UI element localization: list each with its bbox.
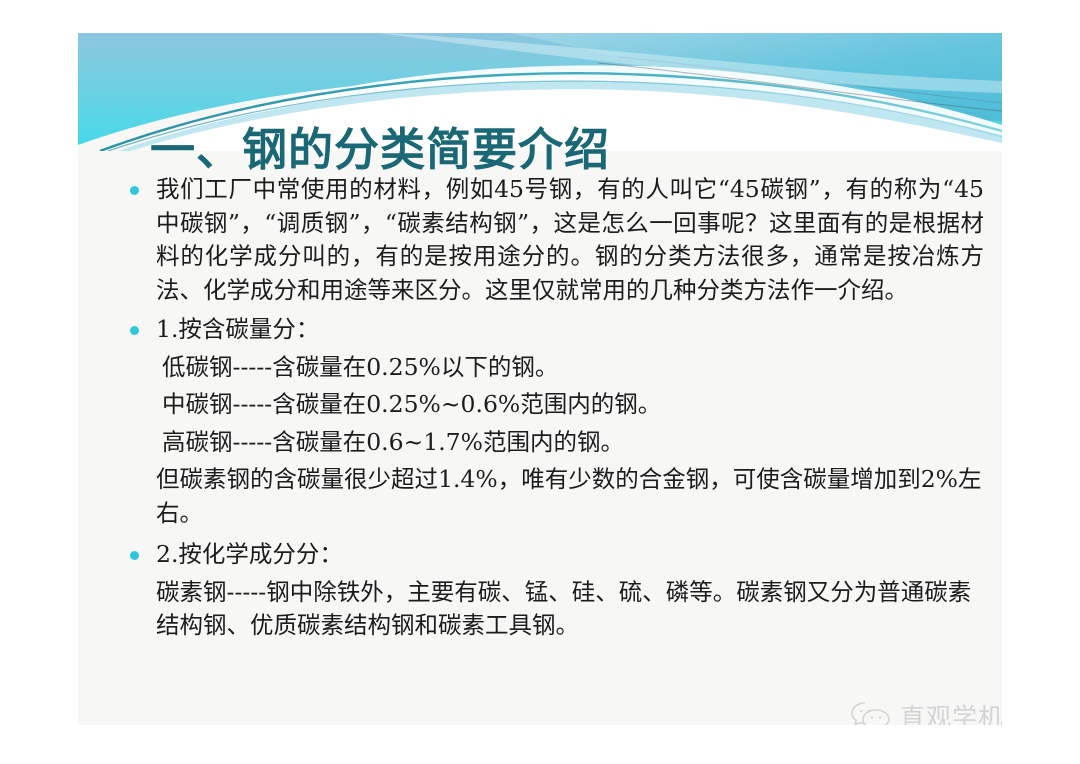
list-item-low-carbon: 低碳钢-----含碳量在0.25%以下的钢。	[78, 351, 1002, 385]
slide-title: 一、钢的分类简要介绍	[150, 127, 610, 172]
slide-body: 我们工厂中常使用的材料，例如45号钢，有的人叫它“45碳钢”，有的称为“45中碳…	[78, 173, 1002, 643]
paragraph-text: 1.按含碳量分：	[156, 315, 319, 343]
paragraph-carbon-steel-types: 碳素钢-----钢中除铁外，主要有碳、锰、硅、硫、磷等。碳素钢又分为普通碳素结构…	[78, 576, 1002, 643]
wechat-icon	[850, 699, 892, 725]
paragraph-text: 但碳素钢的含碳量很少超过1.4%，唯有少数的合金钢，可使含碳量增加到2%左右。	[156, 465, 981, 527]
paragraph-text: 我们工厂中常使用的材料，例如45号钢，有的人叫它“45碳钢”，有的称为“45中碳…	[156, 175, 984, 304]
bullet-marker-icon	[130, 186, 139, 195]
paragraph-carbon-limit: 但碳素钢的含碳量很少超过1.4%，唯有少数的合金钢，可使含碳量增加到2%左右。	[78, 463, 1002, 530]
bullet-paragraph-carbon-heading: 1.按含碳量分：	[78, 313, 1002, 347]
bullet-marker-icon	[130, 551, 139, 560]
list-item-medium-carbon: 中碳钢-----含碳量在0.25%~0.6%范围内的钢。	[78, 388, 1002, 422]
paragraph-text: 碳素钢-----钢中除铁外，主要有碳、锰、硅、硫、磷等。碳素钢又分为普通碳素结构…	[156, 578, 971, 640]
paragraph-text: 2.按化学成分分：	[156, 540, 343, 568]
bullet-marker-icon	[130, 326, 139, 335]
bullet-paragraph-intro: 我们工厂中常使用的材料，例如45号钢，有的人叫它“45碳钢”，有的称为“45中碳…	[78, 173, 1002, 307]
paragraph-text: 低碳钢-----含碳量在0.25%以下的钢。	[162, 353, 558, 381]
paragraph-text: 中碳钢-----含碳量在0.25%~0.6%范围内的钢。	[162, 390, 661, 418]
paragraph-text: 高碳钢-----含碳量在0.6~1.7%范围内的钢。	[162, 428, 624, 456]
bullet-paragraph-composition-heading: 2.按化学成分分：	[78, 538, 1002, 572]
slide-canvas: 一、钢的分类简要介绍 我们工厂中常使用的材料，例如45号钢，有的人叫它“45碳钢…	[78, 33, 1002, 725]
watermark: 直观学机械	[850, 698, 1002, 725]
list-item-high-carbon: 高碳钢-----含碳量在0.6~1.7%范围内的钢。	[78, 426, 1002, 460]
watermark-text: 直观学机械	[900, 698, 1002, 725]
